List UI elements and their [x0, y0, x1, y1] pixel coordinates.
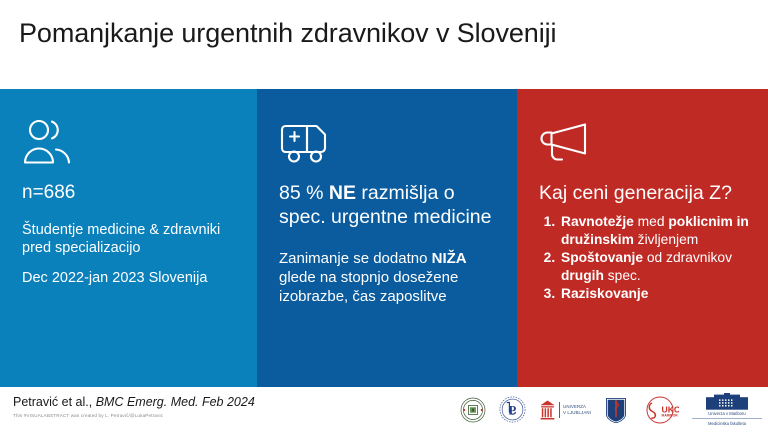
list-item: Raziskovanje — [559, 285, 756, 303]
headline-part-1: NE — [329, 182, 356, 204]
item-1-part-1: od zdravnikov — [643, 250, 732, 265]
panel-finding: 85 % NE razmišlja o spec. urgentne medic… — [257, 89, 514, 387]
svg-text:MARIBOR: MARIBOR — [662, 413, 679, 417]
item-0-part-0: Ravnotežje — [561, 214, 634, 229]
line-part-1: NIŽA — [432, 250, 467, 267]
two-people-icon — [22, 119, 235, 171]
credit-line: This #VISUALABSTRACT was created by L. P… — [13, 412, 163, 419]
list-item: Ravnotežje med poklicnim in družinskim ž… — [559, 213, 756, 248]
logo-divider — [559, 402, 560, 418]
panel-sample-headline: n=686 — [22, 181, 235, 205]
headline-part-0: 85 % — [279, 182, 329, 204]
panel-generation-z: Kaj ceni generacija Z? Ravnotežje med po… — [514, 89, 768, 387]
citation-author: Petravić et al., — [13, 395, 96, 409]
megaphone-icon — [539, 119, 756, 171]
panel-finding-line-1: Zanimanje se dodatno NIŽA glede na stopn… — [279, 249, 492, 306]
citation: Petravić et al., BMC Emerg. Med. Feb 202… — [13, 395, 255, 410]
univerza-v-ljubljani-logo: UNIVERZA V LJUBLJANI — [539, 399, 591, 421]
um-label-line1: Univerza v Mariboru — [692, 410, 762, 417]
item-2-part-0: Raziskovanje — [561, 286, 648, 301]
line-part-0: Zanimanje se dodatno — [279, 250, 432, 267]
item-0-part-1: med — [634, 214, 669, 229]
citation-journal: BMC Emerg. Med. Feb 2024 — [96, 395, 255, 409]
medicinska-fakulteta-crest-logo — [604, 396, 628, 424]
um-label-line2: Medicinska fakulteta — [692, 420, 762, 427]
ukc-maribor-logo: UKC MARIBOR — [641, 396, 679, 424]
item-1-part-2: drugih — [561, 268, 604, 283]
panel-finding-headline: 85 % NE razmišlja o spec. urgentne medic… — [279, 181, 492, 229]
ul-label-line2: V LJUBLJANI — [563, 410, 591, 415]
panel-sample: n=686 Študentje medicine & zdravniki pre… — [0, 89, 257, 387]
title-bar: Pomanjkanje urgentnih zdravnikov v Slove… — [0, 0, 768, 89]
footer: Petravić et al., BMC Emerg. Med. Feb 202… — [0, 387, 768, 432]
item-0-part-3: življenjem — [634, 232, 698, 247]
panel-sample-line-2: Dec 2022-jan 2023 Slovenija — [22, 269, 235, 287]
panel-generation-z-headline: Kaj ceni generacija Z? — [539, 181, 756, 205]
zdravniska-zbornica-logo — [460, 397, 486, 423]
page-title: Pomanjkanje urgentnih zdravnikov v Slove… — [19, 17, 556, 49]
univerza-v-ljubljani-seal-logo: P — [499, 396, 526, 423]
logo-strip: P UNIVERZA V LJUBLJANI — [460, 387, 762, 432]
panel-sample-line-1: Študentje medicine & zdravniki pred spec… — [22, 221, 235, 257]
univerza-v-mariboru-logo: Univerza v Mariboru Medicinska fakulteta — [692, 393, 762, 427]
line-part-2: glede na stopnjo dosežene izobrazbe, čas… — [279, 269, 458, 305]
item-1-part-3: spec. — [604, 268, 641, 283]
ambulance-icon — [279, 119, 492, 171]
item-1-part-0: Spoštovanje — [561, 250, 643, 265]
generation-z-list: Ravnotežje med poklicnim in družinskim ž… — [539, 213, 756, 303]
list-item: Spoštovanje od zdravnikov drugih spec. — [559, 249, 756, 284]
um-divider — [692, 418, 762, 419]
panels-row: n=686 Študentje medicine & zdravniki pre… — [0, 89, 768, 387]
